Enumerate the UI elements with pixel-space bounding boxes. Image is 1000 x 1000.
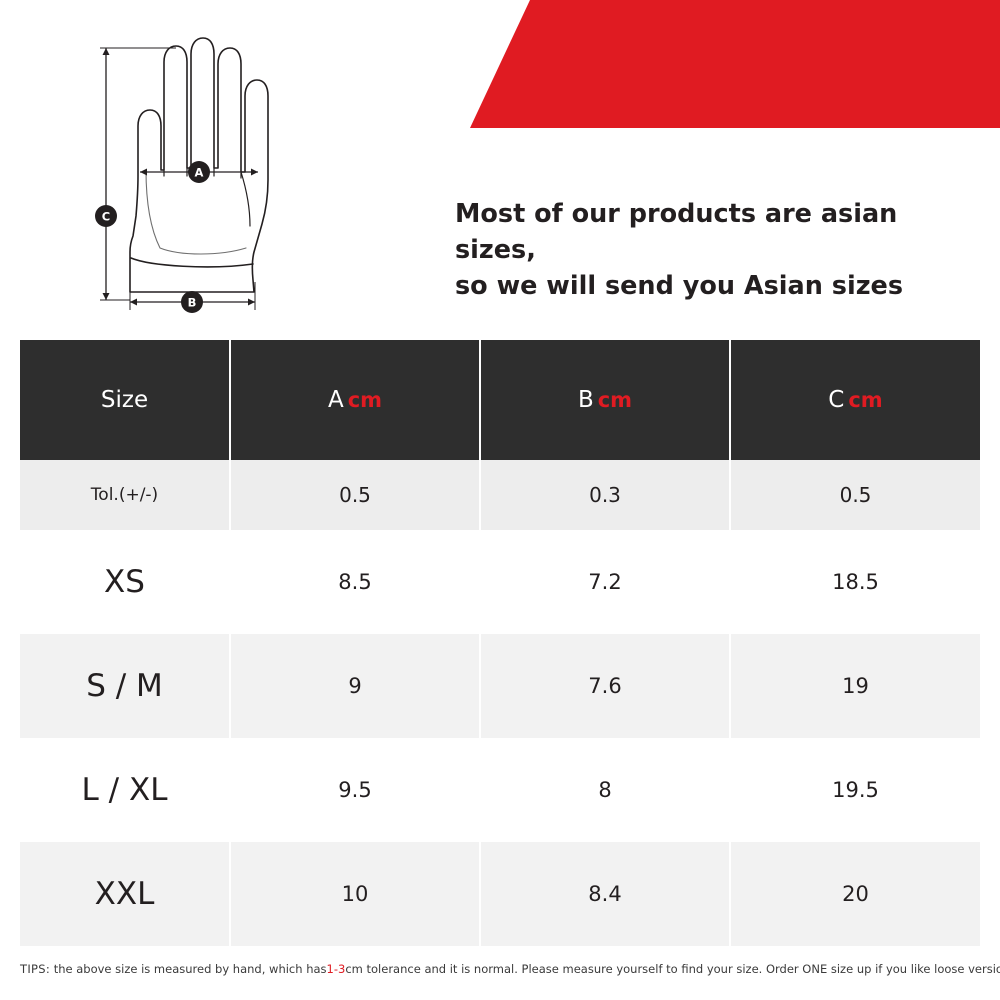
- size-xs-value-b: 7.2: [480, 530, 730, 634]
- column-header-a-label: A: [328, 387, 344, 413]
- column-header-b-label: B: [578, 387, 594, 413]
- table-row: S / M 9 7.6 19: [20, 634, 980, 738]
- headline-text: Most of our products are asian sizes, so…: [455, 196, 975, 304]
- size-sm-value-b: 7.6: [480, 634, 730, 738]
- column-header-c-unit: cm: [848, 388, 882, 412]
- size-label-lxl: L / XL: [20, 738, 230, 842]
- column-header-b-unit: cm: [598, 388, 632, 412]
- column-header-size: Size: [20, 340, 230, 460]
- column-header-size-label: Size: [101, 387, 148, 413]
- glove-diagram-svg: A B C: [80, 20, 410, 320]
- column-header-a: Acm: [230, 340, 480, 460]
- table-row: L / XL 9.5 8 19.5: [20, 738, 980, 842]
- size-label-xs: XS: [20, 530, 230, 634]
- tips-lead: TIPS:: [20, 962, 50, 976]
- column-header-b: Bcm: [480, 340, 730, 460]
- dimension-b-label: B: [188, 296, 197, 310]
- tolerance-label: Tol.(+/-): [20, 460, 230, 530]
- tolerance-value-b: 0.3: [480, 460, 730, 530]
- column-header-c-label: C: [828, 387, 844, 413]
- table-header-row: Size Acm Bcm Ccm: [20, 340, 980, 460]
- tips-part-2: cm tolerance and it is normal. Please me…: [345, 962, 1000, 976]
- table-row: XS 8.5 7.2 18.5: [20, 530, 980, 634]
- tolerance-value-a: 0.5: [230, 460, 480, 530]
- table-row: XXL 10 8.4 20: [20, 842, 980, 946]
- tips-note: TIPS: the above size is measured by hand…: [20, 962, 988, 976]
- glove-measurement-diagram: A B C: [80, 20, 410, 320]
- size-chart-table: Size Acm Bcm Ccm Tol.(+/-) 0.5 0.3 0.5 X…: [20, 340, 980, 946]
- headline-line-1: Most of our products are asian sizes,: [455, 196, 975, 268]
- size-label-xxl: XXL: [20, 842, 230, 946]
- dimension-c-label: C: [102, 210, 110, 224]
- size-xs-value-a: 8.5: [230, 530, 480, 634]
- size-lxl-value-a: 9.5: [230, 738, 480, 842]
- dimension-a-label: A: [195, 166, 204, 180]
- tolerance-value-c: 0.5: [730, 460, 980, 530]
- size-xxl-value-b: 8.4: [480, 842, 730, 946]
- tips-part-1: the above size is measured by hand, whic…: [54, 962, 327, 976]
- size-lxl-value-b: 8: [480, 738, 730, 842]
- column-header-c: Ccm: [730, 340, 980, 460]
- size-xxl-value-c: 20: [730, 842, 980, 946]
- table-header: Size Acm Bcm Ccm: [20, 340, 980, 460]
- size-xs-value-c: 18.5: [730, 530, 980, 634]
- table-body: Tol.(+/-) 0.5 0.3 0.5 XS 8.5 7.2 18.5 S …: [20, 460, 980, 946]
- size-sm-value-a: 9: [230, 634, 480, 738]
- tips-highlight: 1-3: [327, 962, 346, 976]
- asia-size-banner: [470, 0, 1000, 128]
- size-xxl-value-a: 10: [230, 842, 480, 946]
- size-lxl-value-c: 19.5: [730, 738, 980, 842]
- headline-line-2: so we will send you Asian sizes: [455, 268, 975, 304]
- table-row-tolerance: Tol.(+/-) 0.5 0.3 0.5: [20, 460, 980, 530]
- column-header-a-unit: cm: [348, 388, 382, 412]
- size-label-sm: S / M: [20, 634, 230, 738]
- size-sm-value-c: 19: [730, 634, 980, 738]
